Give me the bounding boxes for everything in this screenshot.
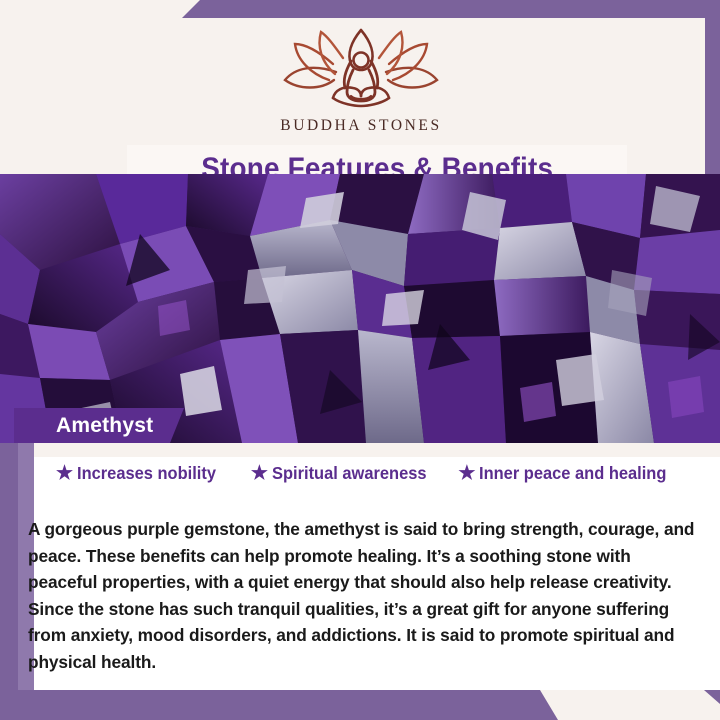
benefit-item-3: ★ Inner peace and healing xyxy=(458,463,678,484)
star-icon: ★ xyxy=(458,464,475,483)
stone-name-label: Amethyst xyxy=(14,414,153,438)
header: BUDDHA STONES Stone Features & Benefits xyxy=(17,18,705,174)
star-icon: ★ xyxy=(251,464,268,483)
content-panel: ★ Increases nobility ★ Spiritual awarene… xyxy=(34,443,720,690)
content-top-strip xyxy=(34,443,720,457)
stone-description: A gorgeous purple gemstone, the amethyst… xyxy=(28,516,704,675)
frame-bottom-band xyxy=(0,690,720,720)
brand-name: BUDDHA STONES xyxy=(280,117,441,135)
benefits-list: ★ Increases nobility ★ Spiritual awarene… xyxy=(34,463,694,484)
amethyst-crystal-cluster-photo xyxy=(0,174,720,443)
benefit-item-2: ★ Spiritual awareness xyxy=(251,463,436,484)
stone-name-badge: Amethyst xyxy=(14,408,186,443)
benefit-item-1: ★ Increases nobility xyxy=(56,463,225,484)
lotus-meditation-icon xyxy=(273,28,449,114)
benefit-label-2: Spiritual awareness xyxy=(272,463,427,484)
benefit-label-1: Increases nobility xyxy=(77,463,216,484)
frame-left-band xyxy=(0,440,18,720)
benefit-label-3: Inner peace and healing xyxy=(479,463,666,484)
stone-info-card: BUDDHA STONES Stone Features & Benefits xyxy=(0,0,720,720)
frame-top-band xyxy=(0,0,720,18)
star-icon: ★ xyxy=(56,464,73,483)
brand-logo: BUDDHA STONES xyxy=(17,28,705,135)
